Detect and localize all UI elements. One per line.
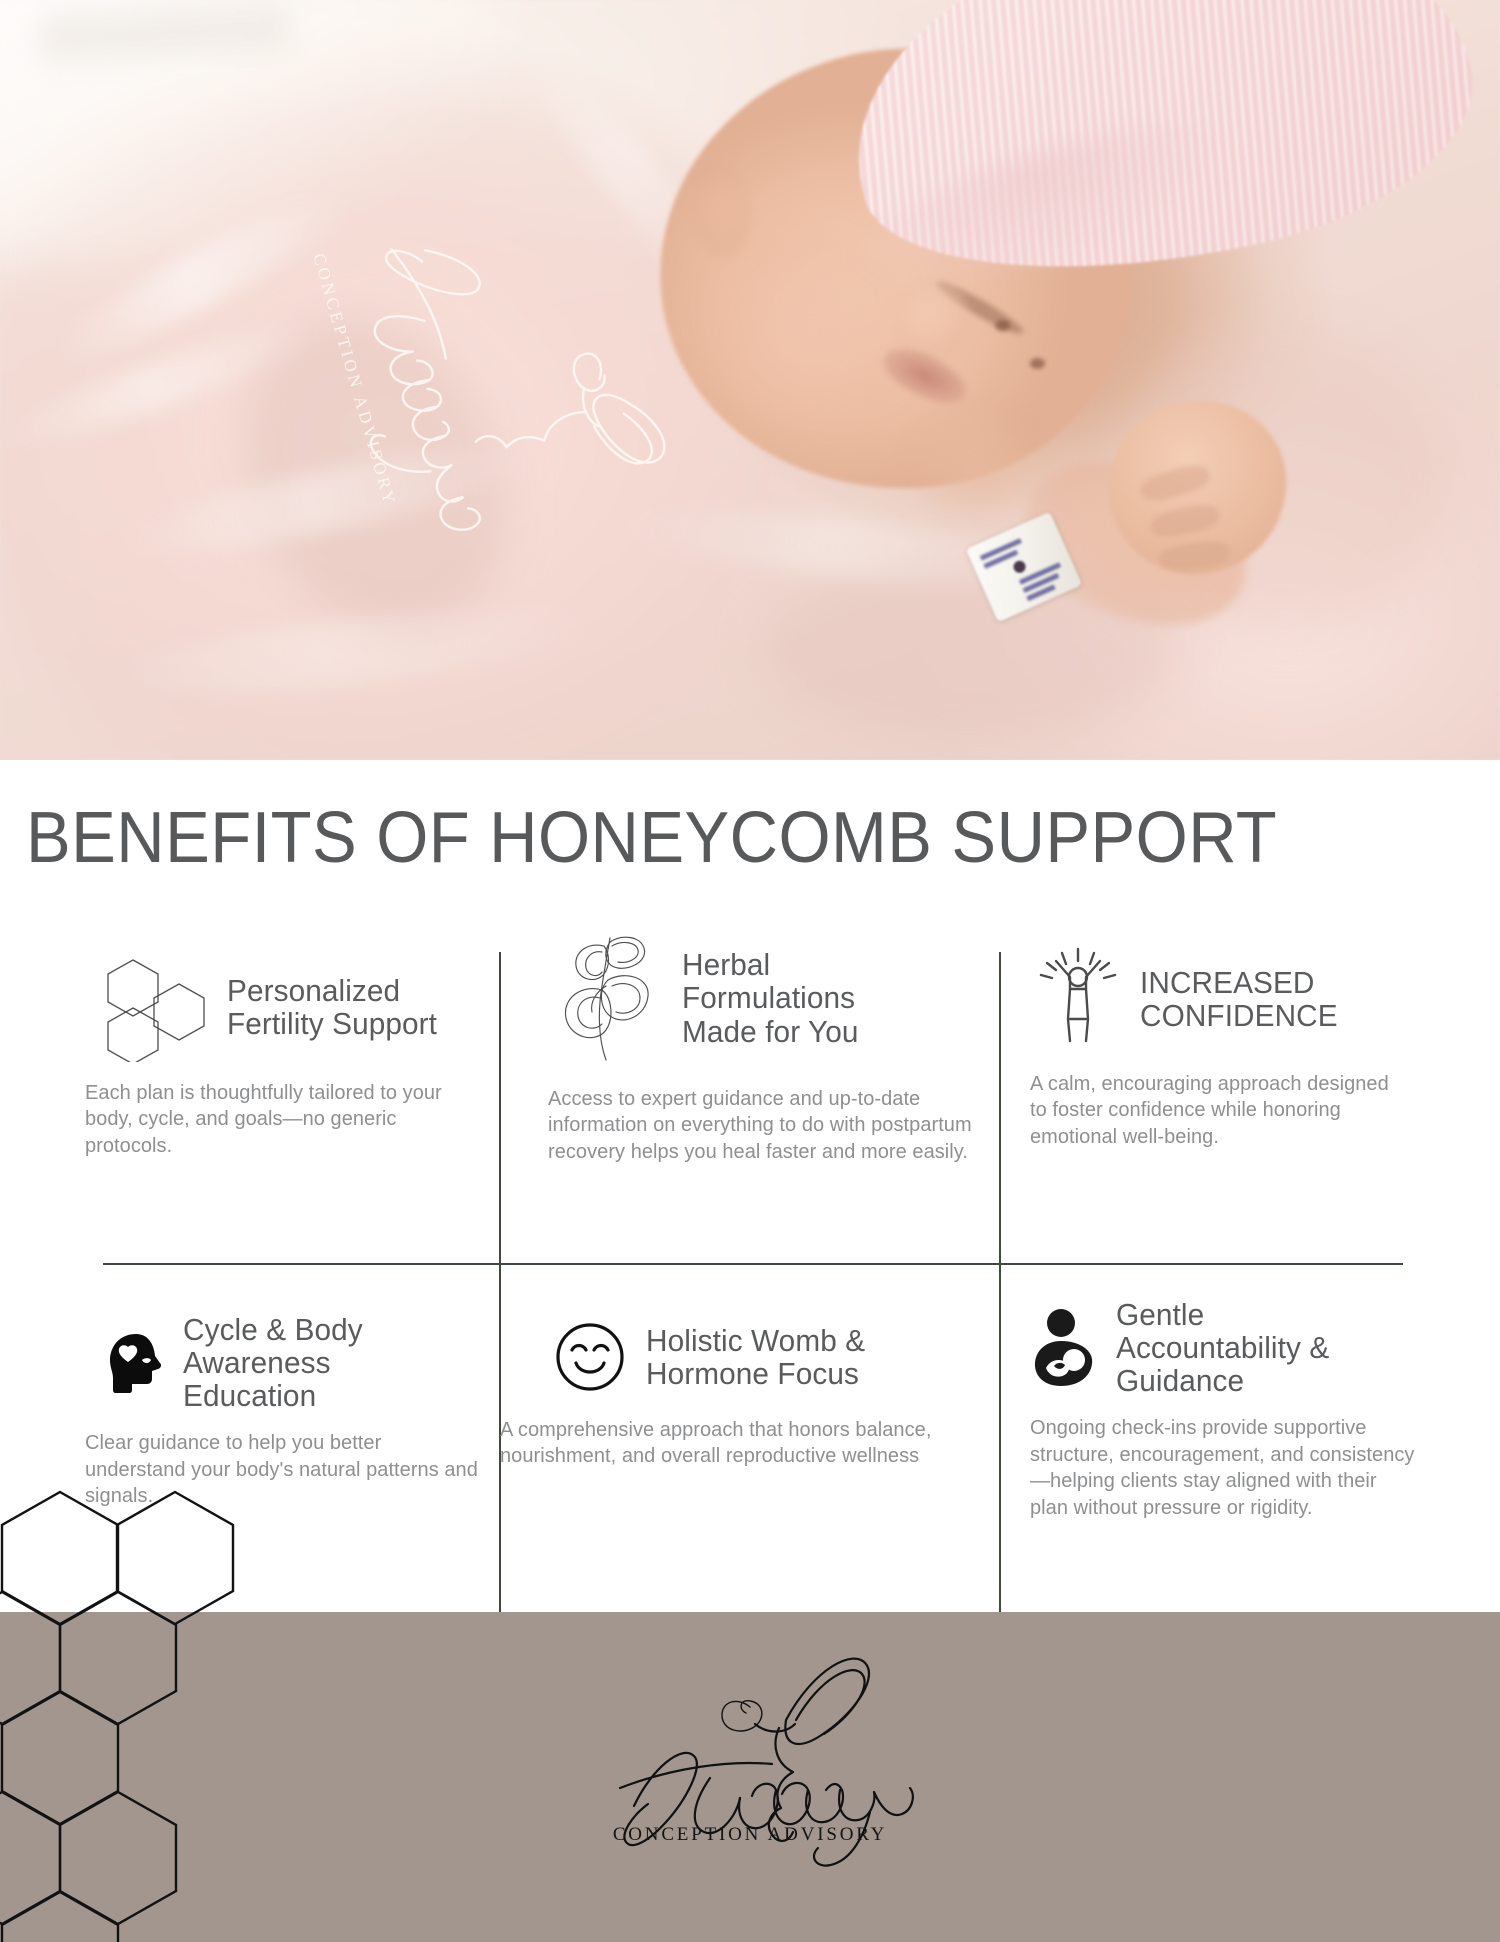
head-with-heart-icon xyxy=(103,1330,169,1396)
hero-photo-newborn: CONCEPTION ADVISORY xyxy=(0,0,1500,760)
card-header: INCREASEDCONFIDENCE xyxy=(1030,945,1410,1053)
vertical-divider xyxy=(999,1265,1001,1612)
horizontal-divider xyxy=(103,1263,1403,1265)
card-header: Holistic Womb &Hormone Focus xyxy=(548,1315,948,1399)
benefit-card-increased-confidence: INCREASEDCONFIDENCE A calm, encouraging … xyxy=(1030,945,1410,1150)
card-title: GentleAccountability &Guidance xyxy=(1116,1298,1329,1397)
benefit-card-holistic-womb-hormone: Holistic Womb &Hormone Focus A comprehen… xyxy=(548,1315,948,1470)
card-header: Cycle & BodyAwareness Education xyxy=(103,1313,483,1412)
page-title: BENEFITS OF HONEYCOMB SUPPORT xyxy=(26,802,1277,874)
card-title: HerbalFormulationsMade for You xyxy=(682,948,859,1047)
benefit-card-personalized-fertility-support: PersonalizedFertility Support Each plan … xyxy=(103,952,475,1159)
celebrating-person-icon xyxy=(1030,945,1126,1053)
baby-nostril xyxy=(995,320,1010,331)
card-body-text: A calm, encouraging approach designed to… xyxy=(1030,1071,1410,1150)
card-body-text: Each plan is thoughtfully tailored to yo… xyxy=(85,1080,475,1159)
footer-logo-subtitle: CONCEPTION ADVISORY xyxy=(585,1824,915,1846)
poster-page: CONCEPTION ADVISORY BENEFITS OF HONEYCOM… xyxy=(0,0,1500,1942)
card-header: GentleAccountability &Guidance xyxy=(1030,1298,1415,1397)
card-title: Cycle & BodyAwareness Education xyxy=(183,1313,471,1412)
smiling-face-icon xyxy=(548,1315,632,1399)
card-header: PersonalizedFertility Support xyxy=(103,952,475,1062)
card-body-text: Access to expert guidance and up-to-date… xyxy=(548,1086,978,1165)
footer-brand-logo: CONCEPTION ADVISORY xyxy=(585,1650,915,1846)
card-header: HerbalFormulationsMade for You xyxy=(548,928,978,1068)
card-body-text: A comprehensive approach that honors bal… xyxy=(500,1417,948,1470)
footer-band: CONCEPTION ADVISORY xyxy=(0,1612,1500,1942)
baby-nostril xyxy=(1030,358,1045,369)
mother-and-baby-icon xyxy=(1030,1308,1102,1388)
card-title: INCREASEDCONFIDENCE xyxy=(1140,966,1338,1032)
herbal-plant-line-icon xyxy=(548,928,668,1068)
benefits-section: BENEFITS OF HONEYCOMB SUPPORT Persona xyxy=(0,760,1500,1612)
benefit-card-herbal-formulations: HerbalFormulationsMade for You Access to… xyxy=(548,928,978,1165)
benefit-card-cycle-body-awareness: Cycle & BodyAwareness Education Clear gu… xyxy=(103,1313,483,1510)
card-body-text: Clear guidance to help you better unders… xyxy=(85,1430,483,1509)
card-body-text: Ongoing check-ins provide supportive str… xyxy=(1030,1415,1415,1521)
benefit-card-gentle-accountability: GentleAccountability &Guidance Ongoing c… xyxy=(1030,1298,1415,1521)
card-title: Holistic Womb &Hormone Focus xyxy=(646,1324,865,1390)
honeycomb-hexagons-icon xyxy=(103,952,213,1062)
card-title: PersonalizedFertility Support xyxy=(227,974,437,1040)
